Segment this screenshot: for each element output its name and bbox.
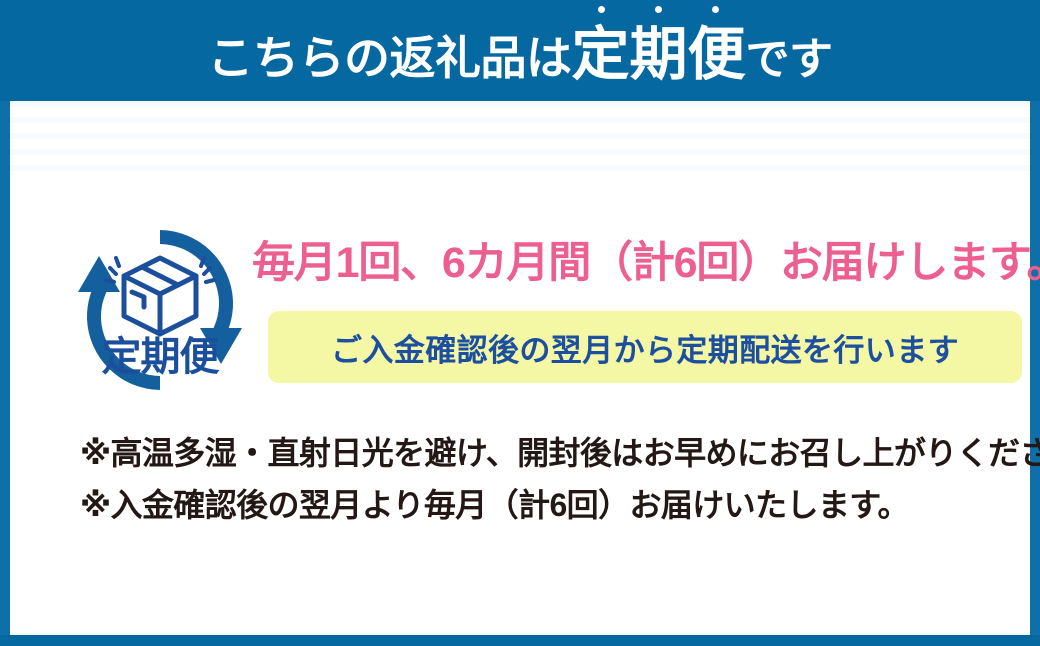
header-emphasis-block: 定期便 bbox=[571, 26, 745, 84]
footnote-item: ※入金確認後の翌月より毎月（計6回）お届けいたします。 bbox=[80, 480, 1010, 532]
emphasis-dot bbox=[712, 6, 719, 13]
footnote-item: ※高温多湿・直射日光を避け、開封後はお早めにお召し上がりください。 bbox=[80, 428, 1010, 480]
emphasis-dots bbox=[573, 6, 743, 13]
emphasis-dot bbox=[598, 6, 605, 13]
header-title: こちらの返礼品は 定期便 です bbox=[207, 26, 832, 84]
package-box-icon bbox=[124, 258, 196, 334]
banner-header-bar: こちらの返礼品は 定期便 です bbox=[0, 0, 1040, 101]
teiki-bin-promo-banner: こちらの返礼品は 定期便 です bbox=[0, 0, 1040, 646]
footnote-list: ※高温多湿・直射日光を避け、開封後はお早めにお召し上がりください。 ※入金確認後… bbox=[80, 428, 1010, 532]
frame-border-right bbox=[1030, 101, 1040, 646]
compression-artifact-band bbox=[10, 101, 1030, 181]
header-emphasis-text: 定期便 bbox=[571, 22, 745, 87]
payment-note-text: ご入金確認後の翌月から定期配送を行います bbox=[331, 325, 959, 370]
logo-label: 定期便 bbox=[102, 335, 221, 379]
frame-border-left bbox=[0, 101, 10, 646]
payment-note-box: ご入金確認後の翌月から定期配送を行います bbox=[268, 311, 1022, 383]
header-lead-text: こちらの返礼品は bbox=[207, 35, 571, 81]
delivery-headline: 毎月1回、6カ月間（計6回）お届けします。 bbox=[252, 241, 1027, 286]
subscription-cycle-logo: 定期便 bbox=[66, 224, 254, 396]
header-tail-text: です bbox=[746, 38, 833, 82]
frame-border-bottom bbox=[0, 635, 1040, 646]
emphasis-dot bbox=[655, 6, 662, 13]
